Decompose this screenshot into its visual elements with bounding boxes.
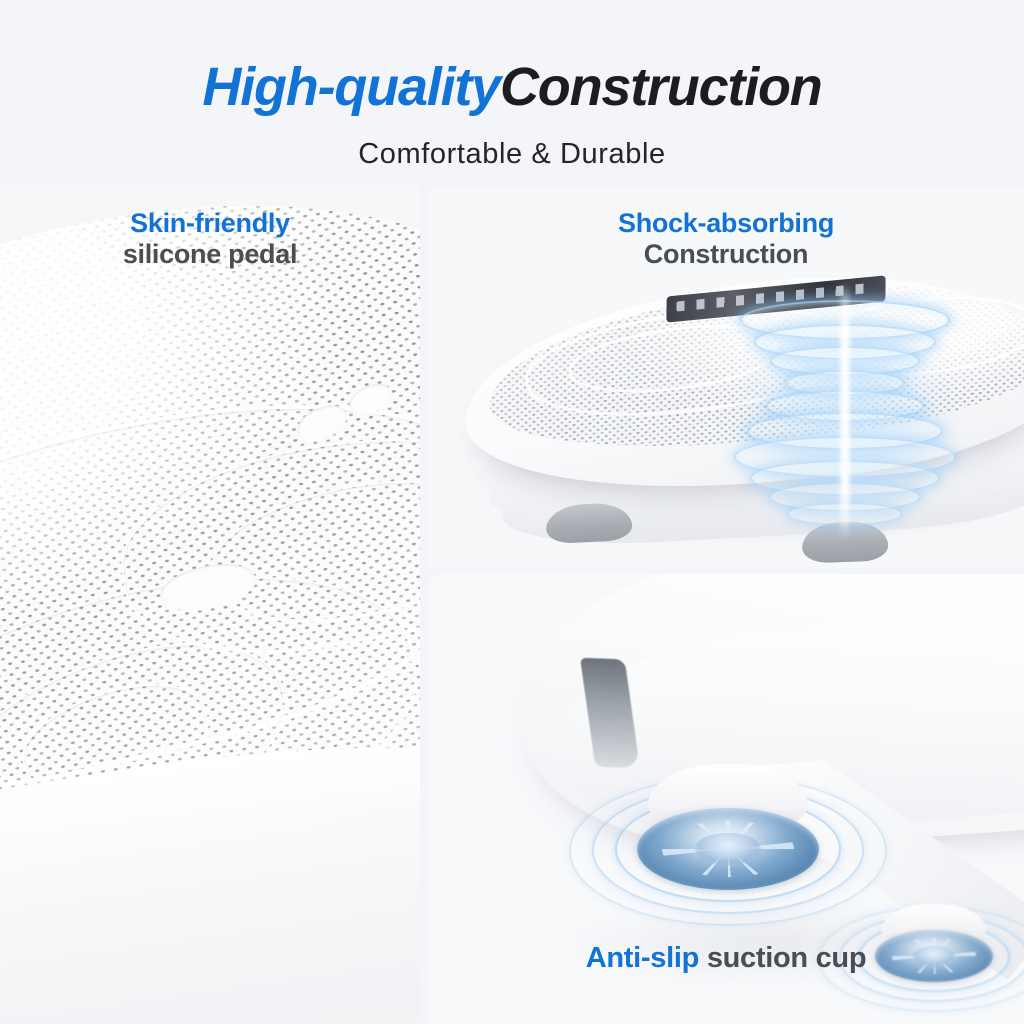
panel-label-blue: Anti-slip [586, 942, 699, 974]
panel-label-dark: suction cup [707, 942, 866, 974]
panel-shock-absorbing: Shock-absorbing Construction [428, 186, 1024, 568]
panel-label-blue: Skin-friendly [130, 208, 290, 238]
panel-label-anti-slip: Anti-slip suction cup [428, 942, 1024, 976]
page-title: High-qualityConstruction [0, 60, 1024, 114]
glow-beam [841, 282, 850, 540]
page-subtitle: Comfortable & Durable [0, 138, 1024, 171]
shock-absorption-glow [720, 278, 970, 538]
panel-label-blue: Shock-absorbing [618, 208, 834, 238]
suction-cup-pad [637, 808, 819, 890]
panel-label-shock-absorbing: Shock-absorbing Construction [428, 208, 1024, 271]
header: High-qualityConstruction Comfortable & D… [0, 0, 1024, 186]
infographic-page: High-qualityConstruction Comfortable & D… [0, 0, 1024, 1024]
panel-label-dark: silicone pedal [123, 239, 297, 269]
panel-skin-friendly-pedal: Skin-friendly silicone pedal [0, 186, 420, 1024]
page-title-dark: Construction [500, 57, 822, 117]
panel-label-skin-friendly: Skin-friendly silicone pedal [0, 208, 420, 271]
page-title-blue: High-quality [202, 57, 500, 117]
silicone-pedal-photo [0, 186, 420, 1024]
panel-anti-slip-suction-cup: Anti-slip suction cup [428, 574, 1024, 1024]
panel-label-dark: Construction [644, 239, 808, 269]
